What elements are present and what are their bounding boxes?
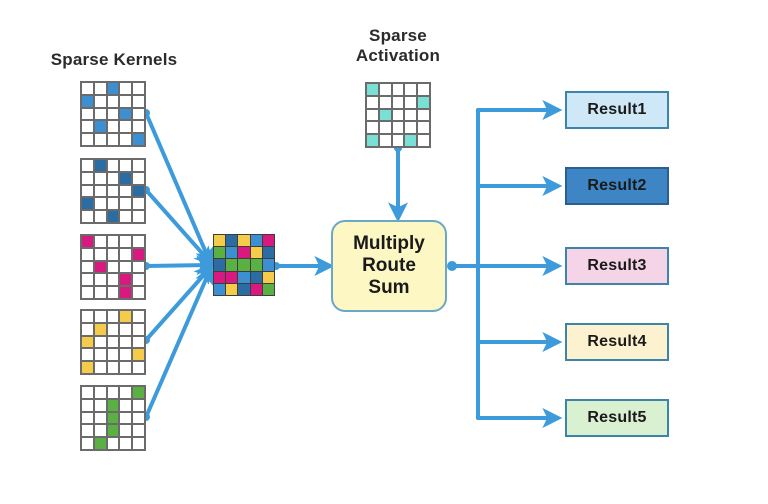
grid-cell <box>94 95 107 108</box>
sparse-activation-grid[interactable] <box>365 82 431 148</box>
arrow-process-to-bus <box>447 261 478 271</box>
grid-cell <box>132 261 145 274</box>
grid-cell <box>107 310 120 323</box>
kernel-grid-1[interactable] <box>80 81 146 147</box>
grid-cell <box>392 83 405 96</box>
grid-cell <box>132 159 145 172</box>
grid-cell <box>132 197 145 210</box>
grid-cell <box>251 235 262 246</box>
grid-cell <box>392 134 405 147</box>
grid-cell <box>132 412 145 425</box>
grid-cell <box>226 247 237 258</box>
grid-cell <box>81 412 94 425</box>
grid-cell <box>132 248 145 261</box>
kernel-grid-4[interactable] <box>80 309 146 375</box>
arrow-mixed-to-process <box>272 262 328 270</box>
grid-cell <box>238 272 249 283</box>
arrow-kernel3-to-mixed <box>142 262 210 270</box>
result-label-1: Result1 <box>587 101 646 119</box>
grid-cell <box>119 273 132 286</box>
grid-cell <box>81 210 94 223</box>
grid-cell <box>81 108 94 121</box>
grid-cell <box>404 134 417 147</box>
grid-cell <box>132 133 145 146</box>
grid-cell <box>81 348 94 361</box>
grid-cell <box>263 247 274 258</box>
grid-cell <box>81 197 94 210</box>
grid-cell <box>94 386 107 399</box>
arrow-kernel5-to-mixed <box>142 270 210 421</box>
result-box-2[interactable]: Result2 <box>565 167 669 205</box>
grid-cell <box>81 82 94 95</box>
grid-cell <box>81 185 94 198</box>
grid-cell <box>107 437 120 450</box>
grid-cell <box>81 361 94 374</box>
grid-cell <box>107 197 120 210</box>
grid-cell <box>132 437 145 450</box>
grid-cell <box>132 210 145 223</box>
grid-cell <box>81 172 94 185</box>
grid-cell <box>119 412 132 425</box>
grid-cell <box>238 284 249 295</box>
grid-cell <box>94 185 107 198</box>
grid-cell <box>119 348 132 361</box>
grid-cell <box>119 210 132 223</box>
grid-cell <box>132 424 145 437</box>
process-line-1: Multiply <box>353 233 425 255</box>
grid-cell <box>119 235 132 248</box>
kernel-grid-3[interactable] <box>80 234 146 300</box>
grid-cell <box>119 386 132 399</box>
grid-cell <box>81 95 94 108</box>
grid-cell <box>119 336 132 349</box>
grid-cell <box>132 120 145 133</box>
result-box-3[interactable]: Result3 <box>565 247 669 285</box>
grid-cell <box>119 82 132 95</box>
grid-cell <box>107 336 120 349</box>
grid-cell <box>132 310 145 323</box>
kernel-grid-5[interactable] <box>80 385 146 451</box>
grid-cell <box>132 323 145 336</box>
grid-cell <box>81 424 94 437</box>
grid-cell <box>94 361 107 374</box>
grid-cell <box>214 259 225 270</box>
grid-cell <box>107 210 120 223</box>
grid-cell <box>366 121 379 134</box>
grid-cell <box>404 109 417 122</box>
grid-cell <box>81 286 94 299</box>
grid-cell <box>107 82 120 95</box>
grid-cell <box>366 134 379 147</box>
grid-cell <box>417 83 430 96</box>
grid-cell <box>404 96 417 109</box>
grid-cell <box>119 323 132 336</box>
grid-cell <box>132 108 145 121</box>
grid-cell <box>107 235 120 248</box>
grid-cell <box>119 248 132 261</box>
grid-cell <box>226 284 237 295</box>
result-label-3: Result3 <box>587 257 646 275</box>
grid-cell <box>94 108 107 121</box>
sparse-kernels-title: Sparse Kernels <box>34 50 194 70</box>
grid-cell <box>81 273 94 286</box>
grid-cell <box>107 424 120 437</box>
grid-cell <box>132 399 145 412</box>
grid-cell <box>81 310 94 323</box>
grid-cell <box>107 399 120 412</box>
result-box-4[interactable]: Result4 <box>565 323 669 361</box>
grid-cell <box>107 261 120 274</box>
grid-cell <box>107 361 120 374</box>
grid-cell <box>366 96 379 109</box>
grid-cell <box>107 172 120 185</box>
sparse-activation-title: Sparse Activation <box>338 26 458 67</box>
process-line-3: Sum <box>368 277 409 299</box>
process-line-2: Route <box>362 255 416 277</box>
grid-cell <box>94 248 107 261</box>
grid-cell <box>132 185 145 198</box>
grid-cell <box>119 159 132 172</box>
grid-cell <box>94 412 107 425</box>
grid-cell <box>107 412 120 425</box>
grid-cell <box>214 284 225 295</box>
grid-cell <box>81 120 94 133</box>
result-box-1[interactable]: Result1 <box>565 91 669 129</box>
grid-cell <box>366 109 379 122</box>
grid-cell <box>226 272 237 283</box>
grid-cell <box>379 134 392 147</box>
grid-cell <box>417 96 430 109</box>
grid-cell <box>214 272 225 283</box>
kernel-grid-2[interactable] <box>80 158 146 224</box>
grid-cell <box>238 235 249 246</box>
grid-cell <box>81 323 94 336</box>
grid-cell <box>251 272 262 283</box>
grid-cell <box>107 120 120 133</box>
diagram-canvas: Sparse Kernels Sparse Activation Multipl… <box>0 0 768 504</box>
grid-cell <box>404 121 417 134</box>
grid-cell <box>379 83 392 96</box>
grid-cell <box>132 336 145 349</box>
arrow-kernel2-to-mixed <box>142 186 210 262</box>
multiply-route-sum-box[interactable]: Multiply Route Sum <box>331 220 447 312</box>
grid-cell <box>263 272 274 283</box>
grid-cell <box>107 95 120 108</box>
grid-cell <box>119 361 132 374</box>
grid-cell <box>107 348 120 361</box>
grid-cell <box>81 133 94 146</box>
combined-kernel-grid[interactable] <box>213 234 275 296</box>
grid-cell <box>119 185 132 198</box>
grid-cell <box>107 185 120 198</box>
grid-cell <box>132 361 145 374</box>
grid-cell <box>119 424 132 437</box>
grid-cell <box>94 172 107 185</box>
grid-cell <box>81 248 94 261</box>
grid-cell <box>81 437 94 450</box>
grid-cell <box>119 286 132 299</box>
grid-cell <box>81 386 94 399</box>
grid-cell <box>226 259 237 270</box>
grid-cell <box>119 437 132 450</box>
grid-cell <box>81 336 94 349</box>
grid-cell <box>132 386 145 399</box>
grid-cell <box>417 134 430 147</box>
grid-cell <box>107 159 120 172</box>
grid-cell <box>132 172 145 185</box>
grid-cell <box>94 310 107 323</box>
grid-cell <box>94 159 107 172</box>
grid-cell <box>107 386 120 399</box>
grid-cell <box>238 247 249 258</box>
result-label-2: Result2 <box>587 177 646 195</box>
grid-cell <box>94 437 107 450</box>
grid-cell <box>94 261 107 274</box>
grid-cell <box>132 235 145 248</box>
grid-cell <box>81 261 94 274</box>
grid-cell <box>81 399 94 412</box>
grid-cell <box>94 210 107 223</box>
grid-cell <box>226 235 237 246</box>
grid-cell <box>94 120 107 133</box>
grid-cell <box>81 159 94 172</box>
grid-cell <box>94 424 107 437</box>
grid-cell <box>119 197 132 210</box>
grid-cell <box>107 286 120 299</box>
result-label-4: Result4 <box>587 333 646 351</box>
grid-cell <box>379 96 392 109</box>
grid-cell <box>107 108 120 121</box>
result-label-5: Result5 <box>587 409 646 427</box>
grid-cell <box>263 284 274 295</box>
grid-cell <box>119 172 132 185</box>
grid-cell <box>251 259 262 270</box>
grid-cell <box>119 399 132 412</box>
arrow-activation-to-process <box>394 144 402 216</box>
grid-cell <box>417 121 430 134</box>
grid-cell <box>417 109 430 122</box>
arrow-kernel1-to-mixed <box>142 109 210 262</box>
grid-cell <box>263 259 274 270</box>
grid-cell <box>81 235 94 248</box>
grid-cell <box>119 95 132 108</box>
grid-cell <box>392 109 405 122</box>
grid-cell <box>119 108 132 121</box>
grid-cell <box>94 348 107 361</box>
grid-cell <box>379 121 392 134</box>
grid-cell <box>107 248 120 261</box>
grid-cell <box>94 323 107 336</box>
grid-cell <box>94 133 107 146</box>
grid-cell <box>119 133 132 146</box>
grid-cell <box>94 82 107 95</box>
grid-cell <box>132 286 145 299</box>
grid-cell <box>251 247 262 258</box>
grid-cell <box>132 82 145 95</box>
grid-cell <box>379 109 392 122</box>
grid-cell <box>263 235 274 246</box>
grid-cell <box>214 235 225 246</box>
grid-cell <box>238 259 249 270</box>
grid-cell <box>251 284 262 295</box>
grid-cell <box>94 336 107 349</box>
grid-cell <box>132 348 145 361</box>
grid-cell <box>107 133 120 146</box>
grid-cell <box>94 197 107 210</box>
grid-cell <box>94 286 107 299</box>
grid-cell <box>94 399 107 412</box>
grid-cell <box>107 273 120 286</box>
grid-cell <box>119 310 132 323</box>
grid-cell <box>214 247 225 258</box>
grid-cell <box>132 95 145 108</box>
grid-cell <box>94 273 107 286</box>
grid-cell <box>119 261 132 274</box>
grid-cell <box>392 96 405 109</box>
grid-cell <box>132 273 145 286</box>
result-box-5[interactable]: Result5 <box>565 399 669 437</box>
grid-cell <box>94 235 107 248</box>
grid-cell <box>107 323 120 336</box>
arrow-kernel4-to-mixed <box>142 268 210 344</box>
grid-cell <box>404 83 417 96</box>
grid-cell <box>119 120 132 133</box>
grid-cell <box>366 83 379 96</box>
grid-cell <box>392 121 405 134</box>
